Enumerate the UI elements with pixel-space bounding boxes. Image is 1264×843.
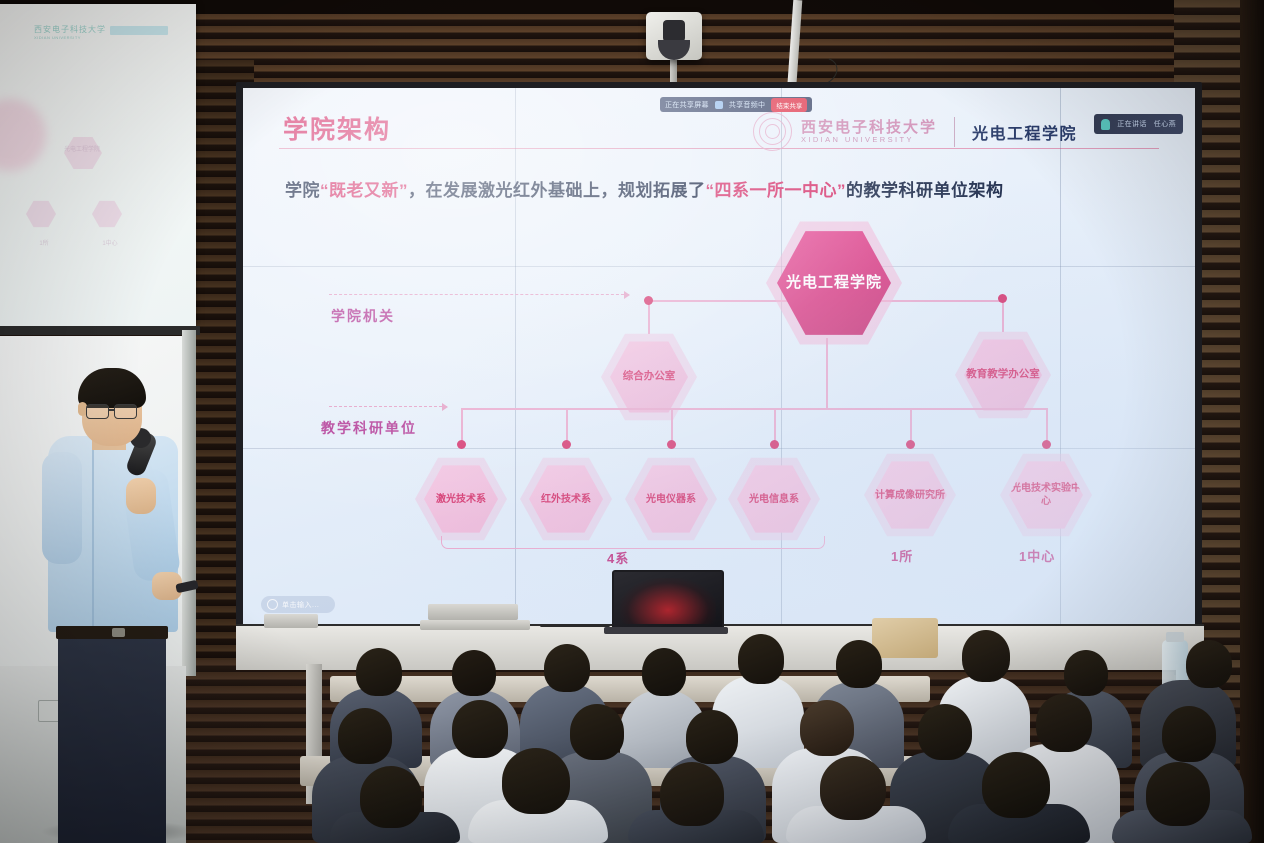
subtitle-part-1: “既老又新” [320,181,408,200]
audience-person-head [1036,694,1092,752]
share-status-label: 正在共享屏幕 [665,100,709,110]
audience-person-head [360,766,422,828]
presenter-hand-holding-mic [126,478,156,514]
slide-input-chip[interactable]: 单击输入... [261,596,335,613]
connector-dot-unit-4 [906,440,915,449]
projection-screen[interactable]: 学院架构 西安电子科技大学 XIDIAN UNIVERSITY 光电工程学院 学… [243,88,1195,627]
connector-unit-2-drop [671,408,673,444]
mini-toolbar-item-2: 任心燕 [1154,119,1176,129]
connector-unit-5-drop [1046,408,1048,444]
connector-dot-unit-2 [667,440,676,449]
connector-unit-1-drop [566,408,568,444]
subtitle-part-3: “四系一所一中心” [706,181,847,200]
desk-equipment-c [264,614,318,628]
audience-person-head [686,710,738,764]
lecture-hall-scene: 西安电子科技大学 XIDIAN UNIVERSITY 光电工程学院 1所 1中心 [0,0,1264,843]
side-projection-board: 西安电子科技大学 XIDIAN UNIVERSITY 光电工程学院 1所 1中心 [0,4,196,326]
unit-node-2-label: 光电仪器系 [646,493,696,506]
connector-unit-0-drop [461,408,463,444]
audience-person-head [356,648,402,696]
click-input-icon [267,599,278,610]
presentation-slide: 学院架构 西安电子科技大学 XIDIAN UNIVERSITY 光电工程学院 学… [243,88,1195,627]
unit-node-4-label: 计算成像研究所 [875,489,945,502]
brand-en-name: XIDIAN UNIVERSITY [801,136,937,145]
row-label-units: 教学科研单位 [321,418,417,438]
audience-person-head [1186,640,1232,688]
presenter-shirt-placket [92,446,94,626]
row-label-admin: 学院机关 [331,306,395,326]
laptop-wallpaper [620,578,716,624]
unit-node-0-label: 激光技术系 [436,493,486,506]
unit-node-5-label: 光电技术实验中心 [1009,482,1083,508]
group-brace-departments [441,536,825,549]
brand-lockup: 西安电子科技大学 XIDIAN UNIVERSITY 光电工程学院 [753,112,1077,151]
connector-dot-unit-1 [562,440,571,449]
connector-dot-admin-left [644,296,653,305]
audience-person-head [660,762,724,826]
audience-person-head [544,644,590,692]
connector-units-bus [461,408,1046,410]
connector-root-drop [826,338,828,408]
unit-node-3-label: 光电信息系 [749,493,799,506]
brand-cn-name: 西安电子科技大学 [801,119,937,136]
wooden-tray [872,618,938,658]
desk-equipment-a [428,604,518,620]
presenter-trousers [58,632,166,843]
audience-person-head [570,704,624,760]
count-label-departments: 4系 [607,548,629,567]
audience-person-head [738,634,784,684]
audience-person-head [1064,650,1108,696]
side-board-tag [110,26,168,35]
side-board-logo: 西安电子科技大学 XIDIAN UNIVERSITY [34,24,106,40]
screen-seam-h2 [243,448,1195,449]
connector-dot-unit-3 [770,440,779,449]
stop-share-button[interactable]: 结束共享 [771,98,807,112]
side-board-hex-a [26,200,56,228]
subtitle-part-2: ，在发展激光红外基础上，规划拓展了 [408,181,706,200]
screen-share-banner[interactable]: 正在共享屏幕 共享音频中 结束共享 [660,97,812,112]
subtitle-part-0: 学院 [285,181,320,200]
count-label-center: 1中心 [1019,546,1055,565]
speaker-icon [715,101,723,109]
row-arrow-admin [329,294,629,295]
audience-person-head [918,704,972,760]
brand-divider [954,117,955,147]
audience-person-head [502,748,570,814]
meeting-mini-toolbar[interactable]: 正在讲话 任心燕 [1094,114,1183,134]
subtitle-part-4: 的教学科研单位架构 [846,181,1004,200]
audience-person-head [1162,706,1216,762]
side-board-count-a: 1所 [14,238,74,247]
brand-department: 光电工程学院 [972,120,1077,144]
brand-text: 西安电子科技大学 XIDIAN UNIVERSITY [801,119,937,145]
left-whiteboard-edge [182,330,196,676]
connector-dot-unit-5 [1042,440,1051,449]
presenter-belt-buckle [112,628,125,637]
podium-laptop[interactable] [612,570,724,632]
side-board-frame [0,326,200,335]
row-arrow-units [329,406,447,407]
audience-person-head [820,756,886,820]
root-node-label: 光电工程学院 [786,274,882,293]
side-board-hex-b [92,200,122,228]
laptop-base [604,627,728,634]
slide-title: 学院架构 [283,110,391,146]
connector-dot-admin-right [998,294,1007,303]
connector-unit-4-drop [910,408,912,444]
side-board-blob [0,99,46,171]
audience-person-head [1146,762,1210,826]
audience-person-head [982,752,1050,818]
audience-person-head [338,708,392,764]
side-board-hex-main [64,136,102,170]
presenter-glasses-bridge [108,409,115,411]
presenter-left-sleeve [42,452,82,564]
university-seal-icon [753,112,792,151]
admin-node-0-label: 综合办公室 [623,370,676,384]
audience-person-head [800,700,854,756]
unit-node-1-label: 红外技术系 [541,493,591,506]
side-board-hex-main-label: 光电工程学院 [52,144,112,153]
audience-person-head [452,650,496,696]
audience-person-head [642,648,686,696]
presenter-glasses-right [114,404,137,419]
audience-person-head [962,630,1010,682]
connector-unit-3-drop [774,408,776,444]
connector-admin-right-drop [1002,300,1004,332]
presenter-glasses-left [86,404,109,419]
water-bottle-cap [1166,632,1184,642]
side-board-count-b: 1中心 [80,238,140,247]
microphone-icon[interactable] [1101,119,1110,130]
connector-dot-unit-0 [457,440,466,449]
mini-toolbar-item-1: 正在讲话 [1117,119,1147,129]
admin-node-1-label: 教育教学办公室 [966,368,1040,382]
slide-input-chip-label: 单击输入... [282,600,319,610]
count-label-institute: 1所 [891,546,913,565]
desk-equipment-b [420,620,530,630]
slide-subtitle: 学院“既老又新”，在发展激光红外基础上，规划拓展了“四系一所一中心”的教学科研单… [285,176,1004,201]
camera-lens-icon [663,20,685,42]
audience-person-head [836,640,882,688]
screen-seam-right [1060,88,1061,627]
connector-admin-left-drop [648,300,650,334]
desk-cable [540,624,610,627]
share-audio-label: 共享音频中 [729,100,766,110]
right-pillar [1240,0,1264,843]
audience-person-head [452,700,508,758]
screen-seam-h1 [243,266,1195,267]
